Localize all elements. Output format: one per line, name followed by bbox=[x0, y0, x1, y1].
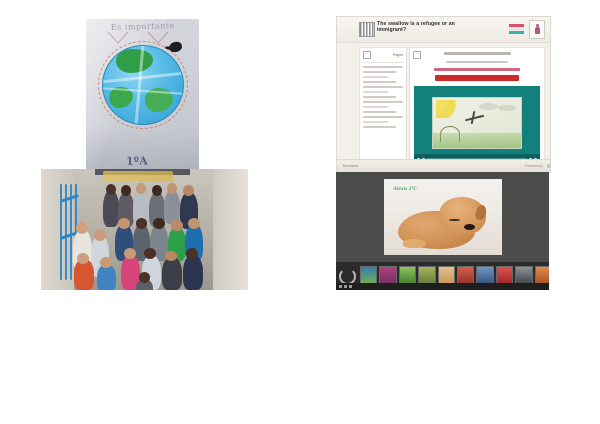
next-icon[interactable] bbox=[349, 285, 352, 288]
page-icon bbox=[413, 51, 421, 59]
sidebar-item-the-project[interactable] bbox=[363, 71, 396, 73]
swallow-bird-icon bbox=[465, 111, 484, 124]
loading-spinner-icon[interactable] bbox=[339, 268, 356, 285]
cloud-icon bbox=[498, 105, 516, 111]
cloud-icon bbox=[479, 103, 498, 110]
sidebar-item-gallery[interactable] bbox=[363, 91, 388, 93]
globe-illustration bbox=[102, 45, 184, 125]
project-website-screenshot[interactable]: The swallow is a refugee or an immigrant… bbox=[336, 16, 551, 173]
school-group-photo bbox=[41, 169, 248, 290]
header-actions bbox=[509, 21, 545, 37]
footer-powered-label: Powered by bbox=[525, 164, 543, 168]
highlight-bar bbox=[435, 75, 518, 82]
site-footer: Eurowins Powered by bbox=[337, 159, 551, 172]
sidebar-header: Pages bbox=[360, 48, 406, 59]
main-subtitle bbox=[446, 61, 508, 63]
sidebar-item-drawings[interactable] bbox=[363, 96, 396, 98]
divider bbox=[362, 62, 404, 63]
artwork-frame[interactable] bbox=[414, 86, 540, 160]
sidebar-item-events[interactable] bbox=[363, 111, 396, 113]
site-header: The swallow is a refugee or an immigrant… bbox=[337, 17, 550, 43]
puppy-illustration bbox=[398, 196, 488, 249]
gallery-lightbox[interactable]: Alexis 1ºC bbox=[336, 172, 549, 290]
user-account-icon[interactable] bbox=[529, 20, 545, 39]
swallow-bird-icon bbox=[168, 41, 183, 53]
play-icon[interactable] bbox=[344, 285, 347, 288]
sidebar-item-news[interactable] bbox=[363, 116, 403, 118]
student-drawing bbox=[432, 97, 522, 149]
sidebar-item-documents[interactable] bbox=[363, 106, 388, 108]
landmass-north bbox=[116, 49, 153, 72]
lightbox-bottom-bar[interactable] bbox=[336, 283, 549, 290]
puppy-head bbox=[439, 197, 486, 235]
sidebar-item-activities[interactable] bbox=[363, 81, 396, 83]
sidebar-item-students-work[interactable] bbox=[363, 86, 403, 88]
menu-icon[interactable] bbox=[363, 51, 371, 59]
sidebar-item-partners[interactable] bbox=[363, 76, 388, 78]
sidebar-menu-list[interactable] bbox=[360, 66, 406, 128]
badge-icon bbox=[547, 164, 551, 168]
sidebar-item-contact[interactable] bbox=[363, 126, 396, 128]
contest-link[interactable] bbox=[434, 68, 520, 70]
barcode-logo-icon bbox=[359, 22, 375, 37]
students-group bbox=[70, 179, 219, 288]
sidebar-item-home[interactable] bbox=[363, 66, 403, 68]
language-flag-icon[interactable] bbox=[509, 24, 524, 34]
earth-drawing-photo: Es importante 1ºA bbox=[86, 19, 199, 173]
lightbox-stage[interactable]: Alexis 1ºC bbox=[336, 172, 549, 262]
site-body: Pages bbox=[337, 42, 550, 160]
globe-stripe bbox=[103, 71, 183, 82]
site-sidebar[interactable]: Pages bbox=[359, 47, 407, 167]
sidebar-item-links[interactable] bbox=[363, 121, 388, 123]
site-main-panel bbox=[409, 47, 545, 167]
puppy-photo: Alexis 1ºC bbox=[384, 179, 502, 255]
photo-caption: Alexis 1ºC bbox=[394, 187, 417, 192]
footer-left-label: Eurowins bbox=[343, 164, 358, 168]
grass-field bbox=[433, 133, 521, 148]
puppy-paw bbox=[403, 239, 426, 248]
footer-right: Powered by bbox=[525, 164, 551, 168]
sidebar-item-videos[interactable] bbox=[363, 101, 403, 103]
globe-sphere bbox=[102, 45, 184, 125]
puppy-ear bbox=[474, 204, 488, 222]
site-title: The swallow is a refugee or an immigrant… bbox=[377, 21, 482, 34]
sun-icon bbox=[436, 100, 459, 118]
main-heading bbox=[444, 52, 511, 55]
previous-icon[interactable] bbox=[339, 285, 342, 288]
sidebar-tab-label[interactable]: Pages bbox=[393, 53, 403, 57]
